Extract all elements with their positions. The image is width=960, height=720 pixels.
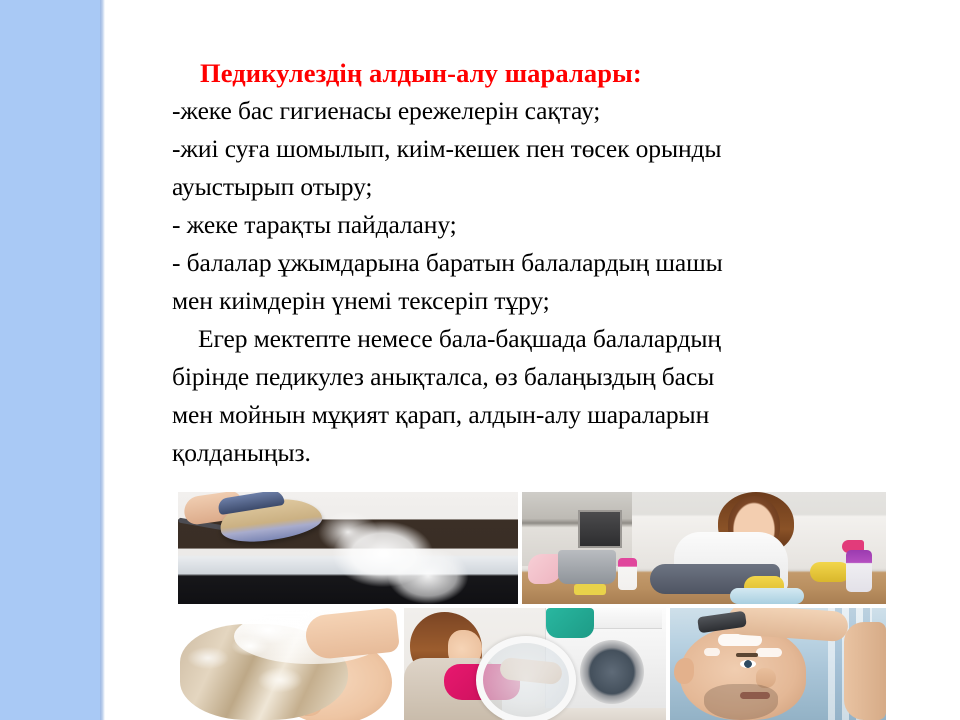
machine-control-panel — [588, 610, 662, 629]
ear — [674, 658, 694, 684]
left-accent-band — [0, 0, 100, 720]
washing-hand — [304, 608, 400, 661]
photo-hair-washing — [178, 608, 400, 720]
beard-stubble — [704, 684, 778, 720]
photo-collage — [178, 492, 886, 720]
body-line-7: Егер мектепте немесе бала-бақшада балала… — [172, 320, 902, 358]
machine-drum — [580, 640, 644, 704]
sponge — [574, 584, 606, 595]
left-accent-band-edge — [100, 0, 105, 720]
shaving-foam-2 — [756, 648, 782, 657]
collage-bottom-row — [178, 608, 886, 720]
body-line-10: қолданыңыз. — [172, 434, 902, 472]
body-line-8: бірінде педикулез анықталса, өз балаңызд… — [172, 358, 902, 396]
bucket — [558, 550, 616, 584]
eye — [740, 660, 756, 668]
cleaning-rag — [528, 554, 562, 584]
body-line-5: - балалар ұжымдарына баратын балалардың … — [172, 244, 902, 282]
body-line-9: мен мойнын мұқият қарап, алдын-алу шарал… — [172, 396, 902, 434]
photo-head-shaving — [670, 608, 886, 720]
photo-washing-machine — [404, 608, 666, 720]
body-line-4: - жеке тарақты пайдалану; — [172, 206, 902, 244]
shaving-foam-3 — [704, 648, 720, 656]
cleaning-cloth — [730, 588, 804, 604]
slide-title: Педикулездің алдын-алу шаралары: — [172, 54, 902, 92]
green-towel — [546, 608, 594, 638]
body-line-6: мен киімдерін үнемі тексеріп тұру; — [172, 282, 902, 320]
detergent-bottle — [618, 558, 637, 590]
yellow-glove-right — [810, 562, 850, 582]
body-line-1: -жеке бас гигиенасы ережелерін сақтау; — [172, 92, 902, 130]
oven — [578, 510, 622, 548]
slide-text-block: Педикулездің алдын-алу шаралары: -жеке б… — [172, 54, 902, 472]
photo-floor-cleaning — [522, 492, 886, 604]
collage-top-row — [178, 492, 886, 604]
forearm — [844, 622, 886, 720]
body-line-3: ауыстырып отыру; — [172, 168, 902, 206]
body-line-2: -жиі суға шомылып, киім-кешек пен төсек … — [172, 130, 902, 168]
eyebrow — [736, 653, 758, 657]
machine-door — [476, 636, 576, 720]
photo-steam-iron — [178, 492, 518, 604]
slide: Педикулездің алдын-алу шаралары: -жеке б… — [0, 0, 960, 720]
mouth — [740, 692, 770, 699]
spray-bottle — [846, 550, 872, 592]
